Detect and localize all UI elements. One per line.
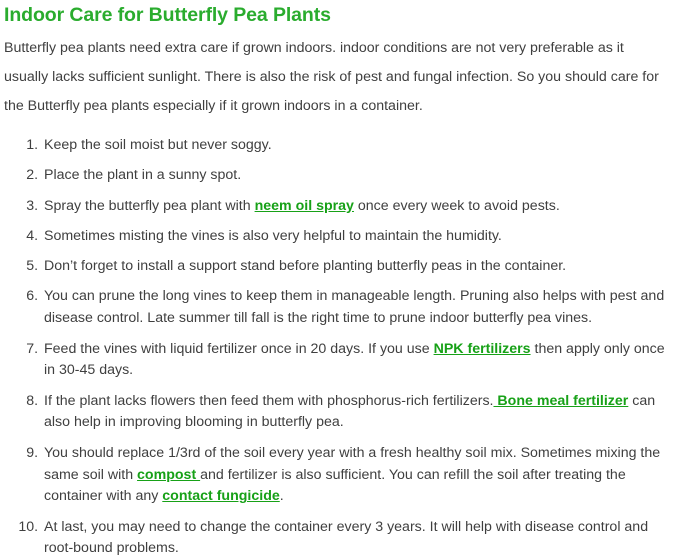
inline-link[interactable]: Bone meal fertilizer — [493, 393, 628, 409]
inline-link[interactable]: neem oil spray — [255, 198, 354, 214]
list-item: At last, you may need to change the cont… — [42, 517, 671, 560]
article-page: Indoor Care for Butterfly Pea Plants But… — [0, 0, 679, 560]
list-item-text: Keep the soil moist but never soggy. — [44, 137, 272, 153]
list-item: Keep the soil moist but never soggy. — [42, 135, 671, 157]
list-item: You can prune the long vines to keep the… — [42, 286, 671, 330]
list-item-text: Place the plant in a sunny spot. — [44, 167, 241, 183]
list-item: Spray the butterfly pea plant with neem … — [42, 196, 671, 218]
list-item-text: At last, you may need to change the cont… — [44, 519, 648, 557]
list-item: You should replace 1/3rd of the soil eve… — [42, 443, 671, 508]
list-item-text: . — [280, 488, 284, 504]
list-item-text: once every week to avoid pests. — [354, 198, 560, 214]
list-item-text: Sometimes misting the vines is also very… — [44, 228, 502, 244]
list-item-text: Feed the vines with liquid fertilizer on… — [44, 341, 434, 357]
intro-paragraph: Butterfly pea plants need extra care if … — [4, 34, 671, 121]
list-item-text: Spray the butterfly pea plant with — [44, 198, 255, 214]
list-item: If the plant lacks flowers then feed the… — [42, 391, 671, 435]
list-item: Place the plant in a sunny spot. — [42, 165, 671, 187]
list-item: Feed the vines with liquid fertilizer on… — [42, 339, 671, 383]
list-item-text: You can prune the long vines to keep the… — [44, 288, 664, 326]
care-instructions-list: Keep the soil moist but never soggy.Plac… — [4, 135, 671, 560]
list-item: Don’t forget to install a support stand … — [42, 256, 671, 278]
inline-link[interactable]: compost — [137, 467, 200, 483]
list-item: Sometimes misting the vines is also very… — [42, 226, 671, 248]
inline-link[interactable]: NPK fertilizers — [434, 341, 531, 357]
inline-link[interactable]: contact fungicide — [162, 488, 279, 504]
list-item-text: If the plant lacks flowers then feed the… — [44, 393, 493, 409]
list-item-text: Don’t forget to install a support stand … — [44, 258, 566, 274]
page-title: Indoor Care for Butterfly Pea Plants — [4, 4, 671, 27]
